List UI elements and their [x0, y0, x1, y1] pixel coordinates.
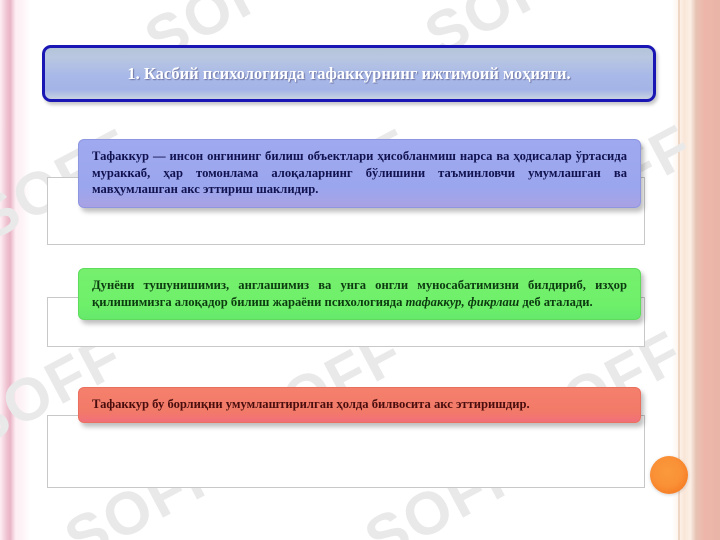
slide-canvas: SOFF SOFF SOFF SOFF SOFF SOFF SOFF SOFF … — [0, 0, 720, 540]
orange-circle-decoration — [650, 456, 688, 494]
process-text-part2: деб аталади. — [519, 295, 592, 309]
content-card-process: Дунёни тушунишимиз, англашимиз ва унга о… — [78, 268, 641, 320]
page-title: 1. Касбий психологияда тафаккурнинг ижти… — [45, 64, 653, 84]
definition-text: Тафаккур — инсон онгининг билиш объектла… — [92, 149, 627, 196]
outline-placeholder-3 — [47, 415, 645, 488]
process-text-emphasis: тафаккур, фикрлаш — [406, 295, 520, 309]
content-card-definition: Тафаккур — инсон онгининг билиш объектла… — [78, 139, 641, 208]
reflection-text: Тафаккур бу борлиқни умумлаштирилган ҳол… — [92, 397, 530, 411]
slide-title-banner: 1. Касбий психологияда тафаккурнинг ижти… — [42, 45, 656, 102]
content-card-reflection: Тафаккур бу борлиқни умумлаштирилган ҳол… — [78, 387, 641, 423]
left-edge-decoration — [0, 0, 30, 540]
